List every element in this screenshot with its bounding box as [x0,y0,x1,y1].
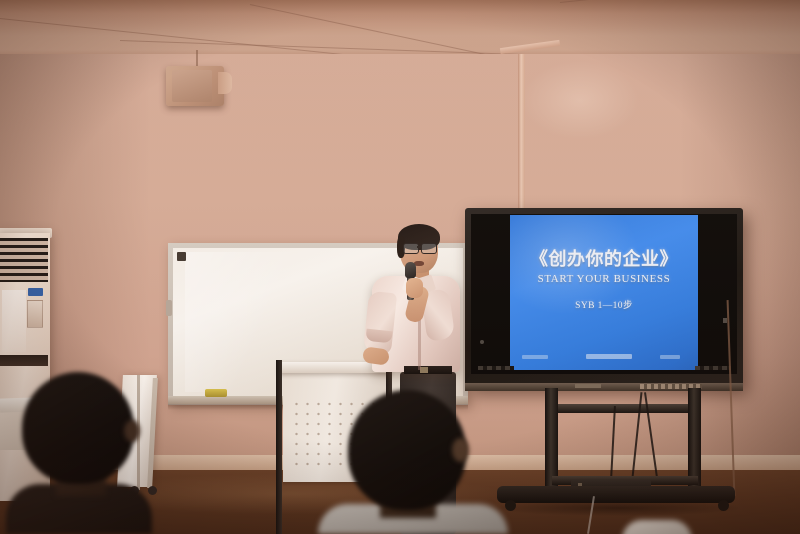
taskbar-item[interactable] [660,355,680,359]
slide-title-en: START YOUR BUSINESS [510,273,698,285]
ac-brand-badge [28,288,43,296]
display-speaker-grille [695,366,731,370]
taskbar-item[interactable] [586,354,632,359]
stand-crossbar [545,404,701,413]
caster-wheel [148,486,157,495]
slide-subtitle: SYB 1—10步 [510,297,698,311]
presenter-right-hand [406,278,423,298]
ac-dark-band [0,355,48,366]
display-indicator-led [480,340,484,344]
display-speaker-grille [478,366,514,370]
ac-glass-panel [2,290,26,352]
glasses-icon [421,243,437,254]
photo-scene: 《创办你的企业》 START YOUR BUSINESS SYB 1—10步 [0,0,800,534]
glasses-icon [403,243,419,254]
whiteboard-magnet[interactable] [177,252,186,261]
audience-shoulder [622,520,692,534]
taskbar-item[interactable] [522,355,548,359]
glasses-bridge [417,246,422,248]
slide-title-cn: 《创办你的企业》 [510,245,698,271]
ceiling [0,0,800,60]
presenter-belt [404,366,452,374]
stand-caster [505,500,516,511]
presentation-slide: 《创办你的企业》 START YOUR BUSINESS SYB 1—10步 [510,215,698,370]
podium-post-left [276,360,282,534]
whiteboard-eraser[interactable] [205,389,227,397]
ac-louvre-icon [0,238,48,282]
audience-head [22,372,134,484]
ac-control-panel[interactable] [27,300,43,328]
audience-head [348,390,466,510]
stand-caster [718,500,729,511]
display-brand-mark [575,384,601,388]
audience-ear [452,438,469,462]
audience-ear [124,420,140,442]
whiteboard-clip [166,300,172,316]
speaker-bracket [218,72,232,94]
speaker-grille-icon [172,70,212,102]
microphone-icon[interactable] [405,262,416,278]
belt-buckle [420,367,428,373]
wall-light-glow [520,60,640,140]
display-taskbar[interactable] [510,352,698,362]
stand-base [497,486,735,503]
